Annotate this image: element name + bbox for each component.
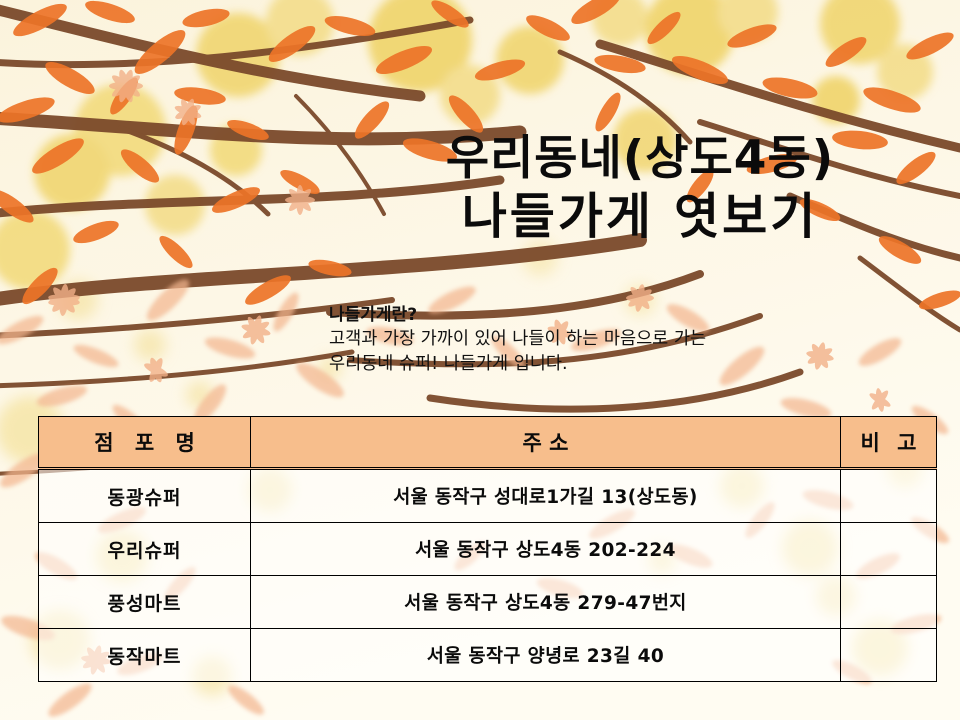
- table-row: 동작마트 서울 동작구 양녕로 23길 40: [39, 629, 937, 682]
- column-header-note-label: 비 고: [856, 431, 922, 455]
- store-table: 점 포 명 주 소 비 고 동광슈퍼 서울 동작구 성대로1가길 13(상도동): [38, 416, 937, 682]
- cell-note: [841, 469, 937, 523]
- title-line-2: 나들가게 엿보기: [370, 188, 910, 246]
- table-row: 풍성마트 서울 동작구 상도4동 279-47번지: [39, 576, 937, 629]
- cell-note: [841, 629, 937, 682]
- intro-body-line-1: 고객과 가장 가까이 있어 나들이 하는 마음으로 가는: [329, 327, 929, 352]
- cell-shop-name: 우리슈퍼: [39, 523, 251, 576]
- table-row: 우리슈퍼 서울 동작구 상도4동 202-224: [39, 523, 937, 576]
- table-row: 동광슈퍼 서울 동작구 성대로1가길 13(상도동): [39, 469, 937, 523]
- table-header-row: 점 포 명 주 소 비 고: [39, 417, 937, 469]
- intro-heading: 나들가게란?: [329, 303, 929, 327]
- cell-address: 서울 동작구 상도4동 279-47번지: [251, 576, 841, 629]
- poster-canvas: 우리동네(상도4동) 나들가게 엿보기 나들가게란? 고객과 가장 가까이 있어…: [0, 0, 960, 720]
- column-header-address: 주 소: [251, 417, 841, 469]
- cell-note: [841, 576, 937, 629]
- cell-shop-name: 동광슈퍼: [39, 469, 251, 523]
- cell-shop-name: 동작마트: [39, 629, 251, 682]
- column-header-note: 비 고: [841, 417, 937, 469]
- intro-body-line-2: 우리동네 슈퍼! 나들가게 입니다.: [329, 352, 929, 377]
- cell-address: 서울 동작구 상도4동 202-224: [251, 523, 841, 576]
- cell-note: [841, 523, 937, 576]
- column-header-shop: 점 포 명: [39, 417, 251, 469]
- intro-block: 나들가게란? 고객과 가장 가까이 있어 나들이 하는 마음으로 가는 우리동네…: [329, 303, 929, 377]
- cell-address: 서울 동작구 성대로1가길 13(상도동): [251, 469, 841, 523]
- cell-shop-name: 풍성마트: [39, 576, 251, 629]
- cell-address: 서울 동작구 양녕로 23길 40: [251, 629, 841, 682]
- column-header-address-label: 주 소: [523, 431, 569, 455]
- poster-title: 우리동네(상도4동) 나들가게 엿보기: [370, 130, 910, 246]
- column-header-shop-label: 점 포 명: [87, 431, 202, 455]
- title-line-1: 우리동네(상도4동): [370, 130, 910, 188]
- store-table-wrapper: 점 포 명 주 소 비 고 동광슈퍼 서울 동작구 성대로1가길 13(상도동): [38, 416, 936, 682]
